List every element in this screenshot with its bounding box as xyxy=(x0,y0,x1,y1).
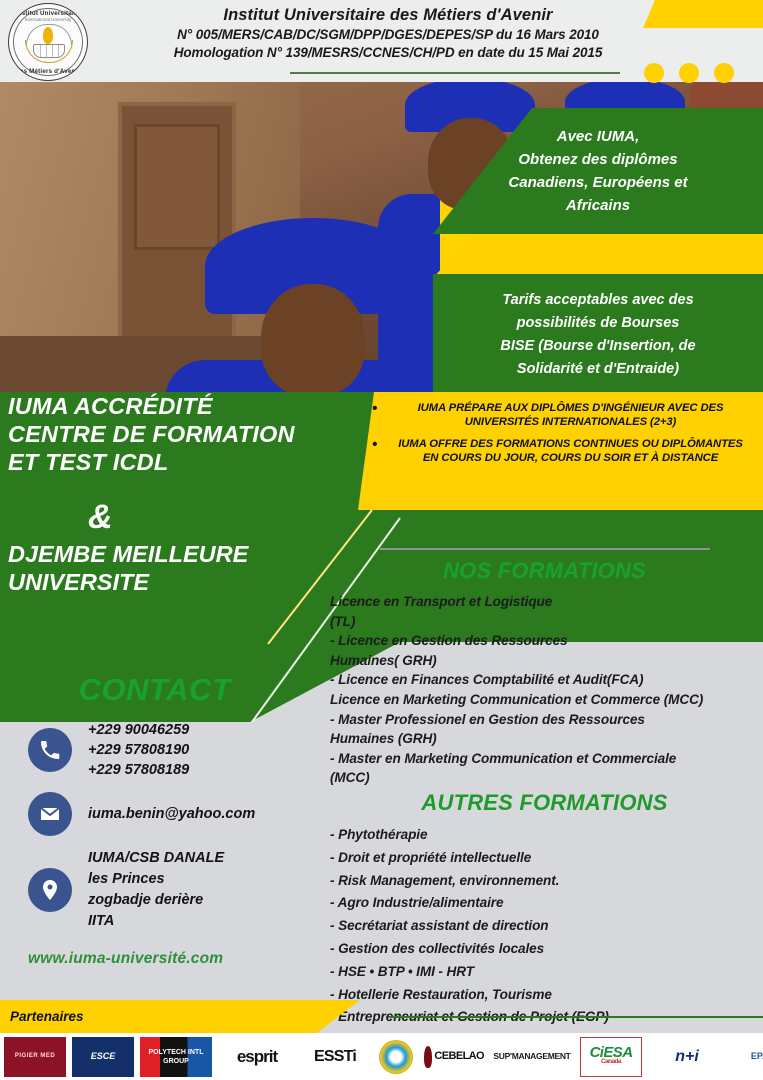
partner-logo: CiESA Canada xyxy=(580,1037,642,1077)
highlight-item: IUMA OFFRE DES FORMATIONS CONTINUES OU D… xyxy=(392,438,749,465)
autres-formations-title: AUTRES FORMATIONS xyxy=(318,790,763,816)
logo-arc-top-text: Institut Universitaire xyxy=(16,10,80,17)
formation-item: - Licence en Gestion des Ressources xyxy=(330,631,763,651)
partner-logo: EPAC xyxy=(732,1037,763,1077)
autre-formation-item: - Secrétariat assistant de direction xyxy=(330,915,763,938)
partner-logo: SUP'MANAGEMENT xyxy=(490,1037,574,1077)
partner-logo: esprit xyxy=(218,1037,296,1077)
website-link[interactable]: www.iuma-université.com xyxy=(28,950,300,968)
partners-logo-strip: PIGIER MED ESCE POLYTECH INTL GROUP espr… xyxy=(0,1033,763,1080)
seal-icon xyxy=(379,1040,413,1074)
institution-title: Institut Universitaire des Métiers d'Ave… xyxy=(108,4,668,26)
logo-wreath-icon xyxy=(25,40,73,63)
tarifs-banner-text: Tarifs acceptables avec des possibilités… xyxy=(484,289,711,381)
programs-column: NOS FORMATIONS Licence en Transport et L… xyxy=(310,548,763,1044)
footer-green-rule xyxy=(390,1016,763,1018)
autre-formation-item: - Risk Management, environnement. xyxy=(330,870,763,893)
accreditation-line-3: ET TEST ICDL xyxy=(8,448,358,476)
institution-logo: Institut Universitaire International Uni… xyxy=(8,3,88,81)
partner-logo: PIGIER MED xyxy=(4,1037,66,1077)
yellow-separator-band xyxy=(433,234,763,278)
logo-emblem xyxy=(23,24,73,64)
tarifs-banner: Tarifs acceptables avec des possibilités… xyxy=(433,274,763,396)
formation-item: Humaines( GRH) xyxy=(330,651,763,671)
decree-line-1: N° 005/MERS/CAB/DC/SGM/DPP/DGES/DEPES/SP… xyxy=(108,26,668,44)
accreditation-line-1: IUMA ACCRÉDITÉ xyxy=(8,392,358,420)
autre-formation-item: - HSE • BTP • IMI - HRT xyxy=(330,961,763,984)
flyer-page: Institut Universitaire International Uni… xyxy=(0,0,763,1080)
yellow-dots-decoration xyxy=(640,58,760,88)
accreditation-line-2: CENTRE DE FORMATION xyxy=(8,420,358,448)
autre-formation-item: - Agro Industrie/alimentaire xyxy=(330,892,763,915)
contact-phone-row[interactable]: +229 90046259 +229 57808190 +229 5780818… xyxy=(0,720,300,780)
formations-list: Licence en Transport et Logistique (TL) … xyxy=(318,592,763,788)
formation-item: - Master en Marketing Communication et C… xyxy=(330,749,763,769)
formation-item: (MCC) xyxy=(330,768,763,788)
phone-icon xyxy=(28,728,72,772)
contact-title: CONTACT xyxy=(0,672,300,708)
djembe-line-2: UNIVERSITE xyxy=(8,568,368,596)
formations-top-divider xyxy=(380,548,710,550)
logo-arc-top-sub: International University xyxy=(9,17,87,22)
envelope-icon xyxy=(28,792,72,836)
autre-formation-item: - Gestion des collectivités locales xyxy=(330,938,763,961)
highlight-item: IUMA PRÉPARE AUX DIPLÔMES D'INGÉNIEUR AV… xyxy=(392,402,749,429)
autres-formations-list: - Phytothérapie - Droit et propriété int… xyxy=(318,824,763,1029)
formation-item: Licence en Transport et Logistique xyxy=(330,592,763,612)
djembe-headline: DJEMBE MEILLEURE UNIVERSITE xyxy=(8,540,368,596)
highlights-yellow-box: IUMA PRÉPARE AUX DIPLÔMES D'INGÉNIEUR AV… xyxy=(358,392,763,510)
highlights-list: IUMA PRÉPARE AUX DIPLÔMES D'INGÉNIEUR AV… xyxy=(358,392,763,465)
autre-formation-item: - Droit et propriété intellectuelle xyxy=(330,847,763,870)
phone-numbers: +229 90046259 +229 57808190 +229 5780818… xyxy=(88,720,189,780)
logo-arc-bottom: des Métiers d'Avenir xyxy=(9,68,87,75)
partner-logo: ESCE xyxy=(72,1037,134,1077)
photo-graduate-front xyxy=(175,232,455,396)
partner-logo: CEBELAO xyxy=(424,1037,484,1077)
contact-email-row[interactable]: iuma.benin@yahoo.com xyxy=(0,792,300,836)
formation-item: - Licence en Finances Comptabilité et Au… xyxy=(330,670,763,690)
formations-title: NOS FORMATIONS xyxy=(318,558,763,584)
djembe-line-1: DJEMBE MEILLEURE xyxy=(8,540,368,568)
contact-section: CONTACT +229 90046259 +229 57808190 +229… xyxy=(0,672,300,968)
partners-label: Partenaires xyxy=(0,1009,84,1024)
partner-logo: ESSTi xyxy=(302,1037,368,1077)
partner-logo-text: CEBELAO xyxy=(434,1052,484,1061)
accreditation-headline: IUMA ACCRÉDITÉ CENTRE DE FORMATION ET TE… xyxy=(8,392,358,476)
partner-logo: n+i xyxy=(648,1037,726,1077)
autre-formation-item: - Hotellerie Restauration, Tourisme xyxy=(330,984,763,1007)
contact-address-row[interactable]: IUMA/CSB DANALE les Princes zogbadje der… xyxy=(0,848,300,932)
formation-item: Humaines (GRH) xyxy=(330,729,763,749)
header-divider xyxy=(290,72,620,74)
formation-item: - Master Professionel en Gestion des Res… xyxy=(330,710,763,730)
cebelao-mark-icon xyxy=(424,1046,432,1068)
formation-item: Licence en Marketing Communication et Co… xyxy=(330,690,763,710)
formation-item: (TL) xyxy=(330,612,763,632)
decree-line-2: Homologation N° 139/MESRS/CCNES/CH/PD en… xyxy=(108,44,668,62)
header-text-block: Institut Universitaire des Métiers d'Ave… xyxy=(108,4,668,62)
diplomas-banner-text: Avec IUMA, Obtenez des diplômes Canadien… xyxy=(494,125,701,217)
location-pin-icon xyxy=(28,868,72,912)
ampersand-symbol: & xyxy=(88,498,113,537)
autre-formation-item: - Phytothérapie xyxy=(330,824,763,847)
partner-logo: POLYTECH INTL GROUP xyxy=(140,1037,212,1077)
partners-label-banner: Partenaires xyxy=(0,1000,360,1033)
partner-logo xyxy=(374,1037,418,1077)
address-text: IUMA/CSB DANALE les Princes zogbadje der… xyxy=(88,848,224,932)
email-address: iuma.benin@yahoo.com xyxy=(88,804,255,824)
logo-arc-top: Institut Universitaire International Uni… xyxy=(9,10,87,22)
